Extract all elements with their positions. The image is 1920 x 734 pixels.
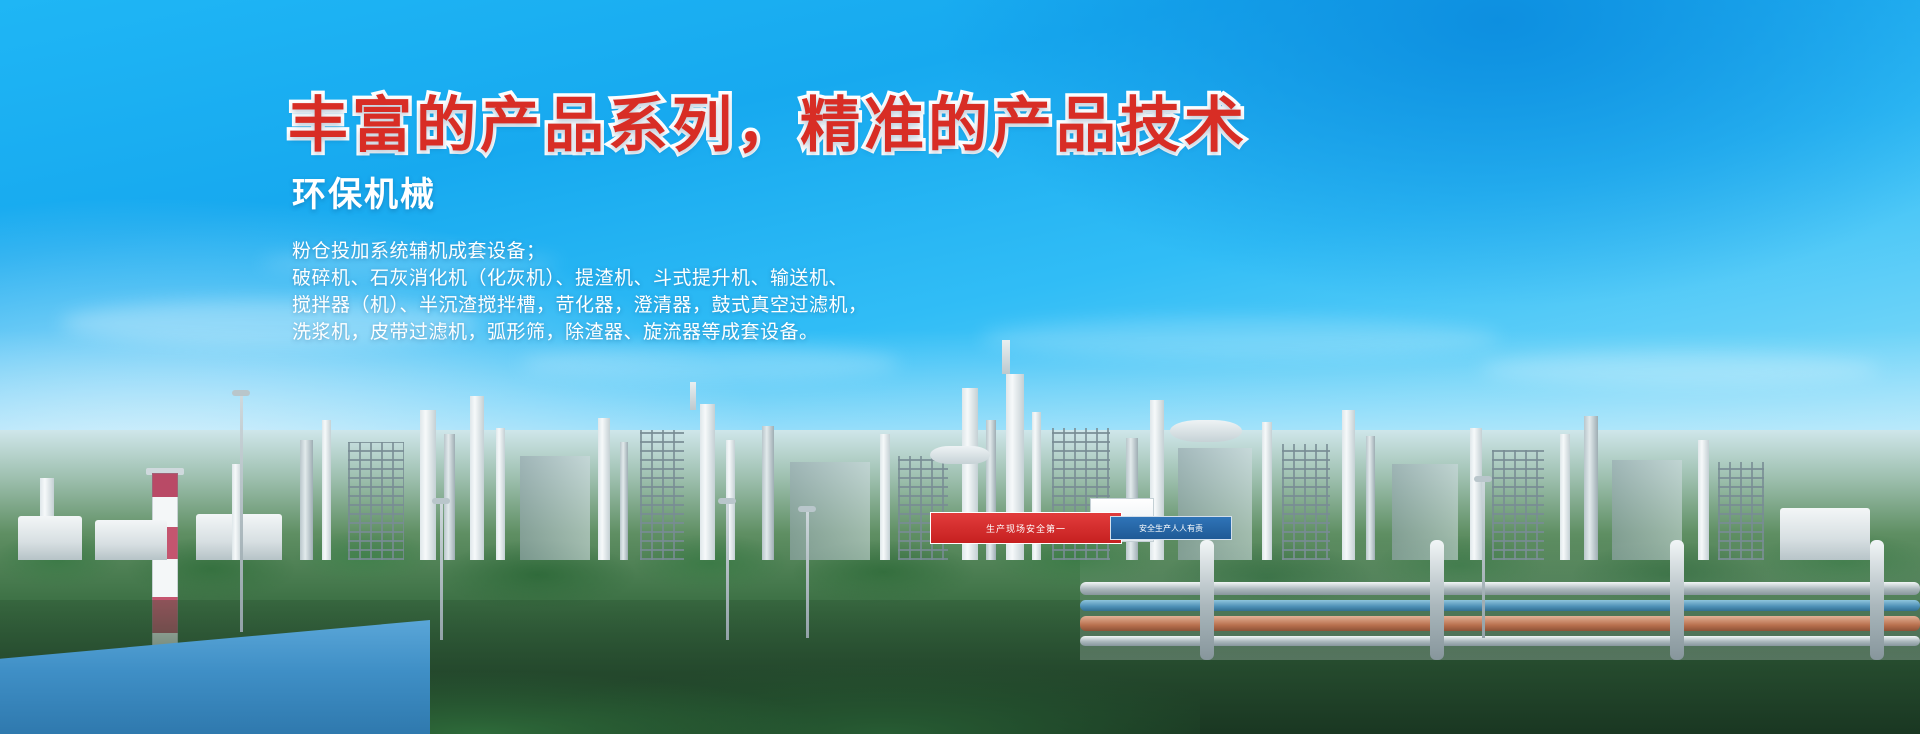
description-line-3: 搅拌器（机）、半沉渣搅拌槽，苛化器，澄清器，鼓式真空过滤机， <box>292 292 1288 319</box>
pressure-vessel <box>930 446 990 464</box>
lamp-head <box>1474 476 1492 482</box>
distillation-column <box>700 404 715 560</box>
description-line-2: 破碎机、石灰消化机（化灰机）、提渣机、斗式提升机、输送机、 <box>292 265 1288 292</box>
storage-tank <box>18 516 82 560</box>
distillation-column <box>470 396 484 560</box>
pipe-support <box>1200 540 1214 660</box>
plant-column <box>322 420 331 560</box>
pipe-support <box>1430 540 1444 660</box>
plant-column <box>1584 416 1598 560</box>
safety-banner-blue: 安全生产人人有责 <box>1110 516 1232 540</box>
plant-column <box>598 418 610 560</box>
pipe-support <box>1670 540 1684 660</box>
pressure-vessel <box>1170 420 1242 442</box>
plant-column <box>444 434 455 560</box>
banner-text-block: 丰富的产品系列，精准的产品技术 环保机械 粉仓投加系统辅机成套设备； 破碎机、石… <box>288 96 1288 346</box>
lamp-post <box>726 500 729 640</box>
lamp-head <box>232 390 250 396</box>
banner-description: 粉仓投加系统辅机成套设备； 破碎机、石灰消化机（化灰机）、提渣机、斗式提升机、输… <box>292 238 1288 346</box>
plant-column <box>762 426 774 560</box>
plant-structure <box>520 456 590 560</box>
plant-column <box>1342 410 1355 560</box>
plant-column <box>620 442 628 560</box>
foreground-vegetation <box>300 600 1200 734</box>
lamp-head <box>798 506 816 512</box>
lattice-tower <box>348 442 404 560</box>
description-line-4: 洗浆机，皮带过滤机，弧形筛，除渣器、旋流器等成套设备。 <box>292 319 1288 346</box>
plant-column <box>300 440 313 560</box>
lamp-post <box>1482 478 1485 638</box>
plant-column <box>496 428 505 560</box>
lamp-post <box>440 500 443 640</box>
lamp-post <box>806 508 809 638</box>
pipe-support <box>1870 540 1884 660</box>
pipe-rack <box>1080 540 1920 660</box>
description-line-1: 粉仓投加系统辅机成套设备； <box>292 238 1288 265</box>
lamp-head <box>718 498 736 504</box>
hero-banner: 中国石化 生产现场安全第一 安全生产人人有责 丰富的产品系列，精准的产品技术 环… <box>0 0 1920 734</box>
storage-tank <box>95 520 167 560</box>
banner-subtitle: 环保机械 <box>292 178 1288 212</box>
lamp-post <box>240 392 243 632</box>
plant-column <box>880 434 890 560</box>
lattice-tower <box>898 456 948 560</box>
small-chimney <box>690 382 696 410</box>
banner-headline: 丰富的产品系列，精准的产品技术 <box>288 96 1288 156</box>
distillation-column <box>420 410 436 560</box>
lattice-tower <box>640 430 684 560</box>
lamp-head <box>432 498 450 504</box>
